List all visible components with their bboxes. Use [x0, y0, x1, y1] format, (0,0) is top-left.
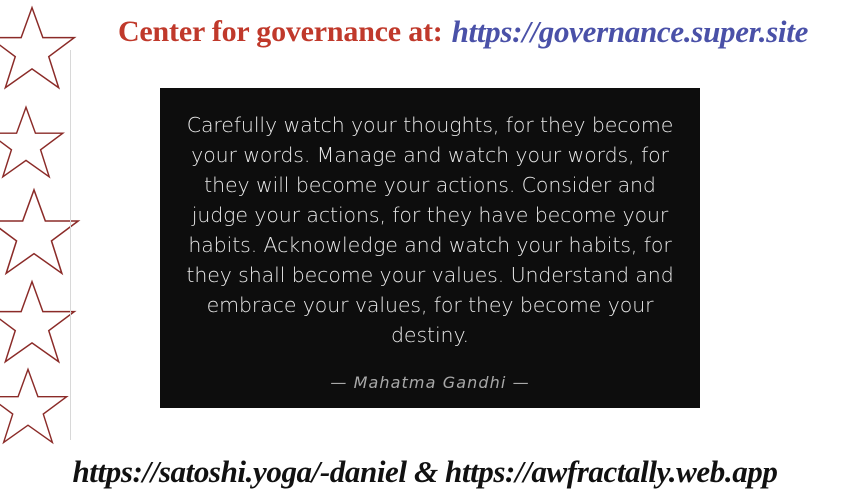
star-decoration-column [0, 0, 72, 440]
quote-card: Carefully watch your thoughts, for they … [160, 88, 700, 408]
vertical-divider [70, 50, 71, 440]
star-outline-icon [0, 366, 70, 450]
header-banner: Center for governance at: https://govern… [78, 8, 848, 56]
star-outline-icon [0, 278, 78, 370]
header-url-link[interactable]: https://governance.super.site [452, 14, 808, 50]
header-title: Center for governance at: [118, 15, 443, 49]
poster-canvas: Center for governance at: https://govern… [0, 0, 850, 500]
footer-links-text[interactable]: https://satoshi.yoga/-daniel & https://a… [72, 454, 777, 490]
quote-attribution: — Mahatma Gandhi — [182, 373, 678, 392]
star-outline-icon [0, 104, 66, 184]
quote-text: Carefully watch your thoughts, for they … [182, 110, 678, 350]
star-outline-icon [0, 4, 78, 96]
footer-banner: https://satoshi.yoga/-daniel & https://a… [0, 444, 850, 500]
